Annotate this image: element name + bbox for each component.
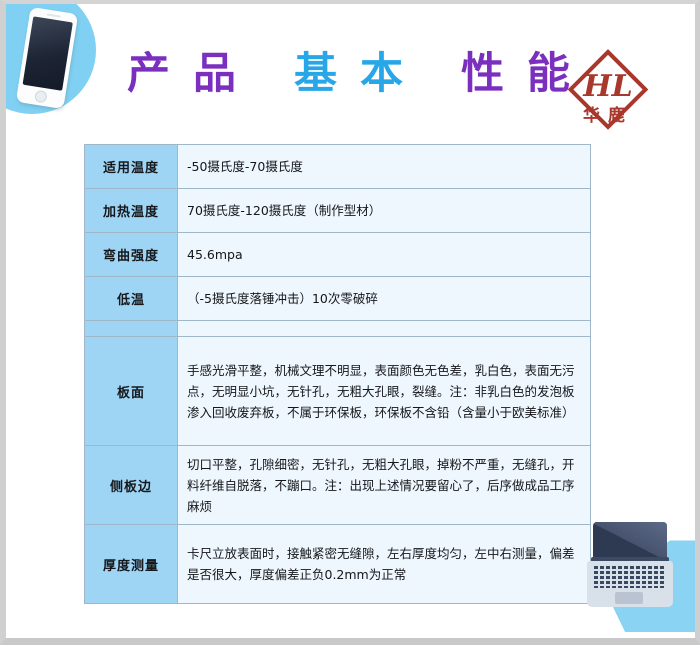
content-canvas: 产 品 基 本 性 能 HL 华鹿 适用温度 -50摄氏度-70摄氏度: [6, 4, 695, 638]
specs-table-body: 适用温度 -50摄氏度-70摄氏度 加热温度 70摄氏度-120摄氏度（制作型材…: [85, 145, 591, 365]
laptop-trackpad-icon: [615, 592, 643, 604]
logo-diamond-icon: HL 华鹿: [565, 47, 651, 133]
quality-table-body: 板面 手感光滑平整，机械文理不明显，表面颜色无色差，乳白色，表面无污点，无明显小…: [85, 337, 591, 604]
title-segment-3: 性 能: [461, 49, 574, 99]
table-row: 适用温度 -50摄氏度-70摄氏度: [85, 145, 591, 189]
title-segment-1: 产 品: [127, 49, 240, 99]
table-row: 弯曲强度 45.6mpa: [85, 233, 591, 277]
spec-value-cell: 45.6mpa: [178, 233, 591, 277]
page-frame: 产 品 基 本 性 能 HL 华鹿 适用温度 -50摄氏度-70摄氏度: [0, 0, 700, 645]
quality-value-cell: 卡尺立放表面时，接触紧密无缝隙，左右厚度均匀，左中右测量，偏差是否很大，厚度偏差…: [178, 525, 591, 604]
spec-value-cell: -50摄氏度-70摄氏度: [178, 145, 591, 189]
table-row: 加热温度 70摄氏度-120摄氏度（制作型材）: [85, 189, 591, 233]
logo-brand-cn: 华鹿: [583, 105, 633, 126]
quality-label-cell: 板面: [85, 337, 178, 446]
quality-value-cell: 手感光滑平整，机械文理不明显，表面颜色无色差，乳白色，表面无污点，无明显小坑，无…: [178, 337, 591, 446]
laptop-keyboard-icon: [594, 566, 666, 588]
spec-label-cell: 适用温度: [85, 145, 178, 189]
quality-label-cell: 侧板边: [85, 446, 178, 525]
spec-value-cell: （-5摄氏度落锤冲击）10次零破碎: [178, 277, 591, 321]
title-segment-2: 基 本: [294, 49, 407, 99]
laptop-base-icon: [587, 561, 673, 607]
brand-logo: HL 华鹿: [565, 47, 651, 133]
logo-monogram: HL: [582, 69, 632, 104]
quality-table: 板面 手感光滑平整，机械文理不明显，表面颜色无色差，乳白色，表面无污点，无明显小…: [84, 336, 591, 604]
table-row: 板面 手感光滑平整，机械文理不明显，表面颜色无色差，乳白色，表面无污点，无明显小…: [85, 337, 591, 446]
quality-value-cell: 切口平整，孔隙细密，无针孔，无粗大孔眼，掉粉不严重，无缝孔，开料纤维自脱落，不蹦…: [178, 446, 591, 525]
spec-label-cell: 低温: [85, 277, 178, 321]
quality-label-cell: 厚度测量: [85, 525, 178, 604]
table-row: 厚度测量 卡尺立放表面时，接触紧密无缝隙，左右厚度均匀，左中右测量，偏差是否很大…: [85, 525, 591, 604]
spec-label-cell: 弯曲强度: [85, 233, 178, 277]
table-row: 低温 （-5摄氏度落锤冲击）10次零破碎: [85, 277, 591, 321]
phone-speaker-icon: [47, 13, 61, 17]
specs-table: 适用温度 -50摄氏度-70摄氏度 加热温度 70摄氏度-120摄氏度（制作型材…: [84, 144, 591, 365]
spec-value-cell: 70摄氏度-120摄氏度（制作型材）: [178, 189, 591, 233]
table-row: 侧板边 切口平整，孔隙细密，无针孔，无粗大孔眼，掉粉不严重，无缝孔，开料纤维自脱…: [85, 446, 591, 525]
laptop-icon: [587, 522, 673, 608]
spec-label-cell: 加热温度: [85, 189, 178, 233]
laptop-screen-icon: [593, 522, 667, 558]
